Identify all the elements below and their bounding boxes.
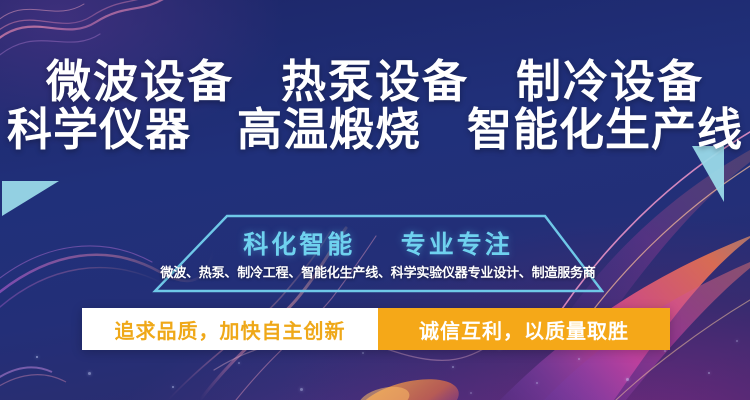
tagline-left: 科化智能 (243, 230, 355, 259)
tagline: 科化智能 专业专注 (152, 225, 604, 261)
slogan-right: 诚信互利，以质量取胜 (378, 308, 670, 350)
headline-line-2: 科学仪器 高温煅烧 智能化生产线 (0, 106, 750, 154)
slogan-bar: 追求品质，加快自主创新 诚信互利，以质量取胜 (82, 308, 670, 350)
slogan-left: 追求品质，加快自主创新 (82, 308, 378, 350)
subtitle: 微波、热泵、制冷工程、智能化生产线、科学实验仪器专业设计、制造服务商 (152, 262, 604, 281)
page-title: 微波设备 热泵设备 制冷设备 科学仪器 高温煅烧 智能化生产线 (0, 58, 750, 154)
tagline-right: 专业专注 (401, 230, 513, 259)
tagline-trapezoid: 科化智能 专业专注 微波、热泵、制冷工程、智能化生产线、科学实验仪器专业设计、制… (152, 214, 604, 294)
headline-line-1: 微波设备 热泵设备 制冷设备 (0, 58, 750, 106)
promo-banner: 微波设备 热泵设备 制冷设备 科学仪器 高温煅烧 智能化生产线 科化智能 专业专… (0, 0, 750, 400)
left-arrow-icon (2, 181, 59, 216)
